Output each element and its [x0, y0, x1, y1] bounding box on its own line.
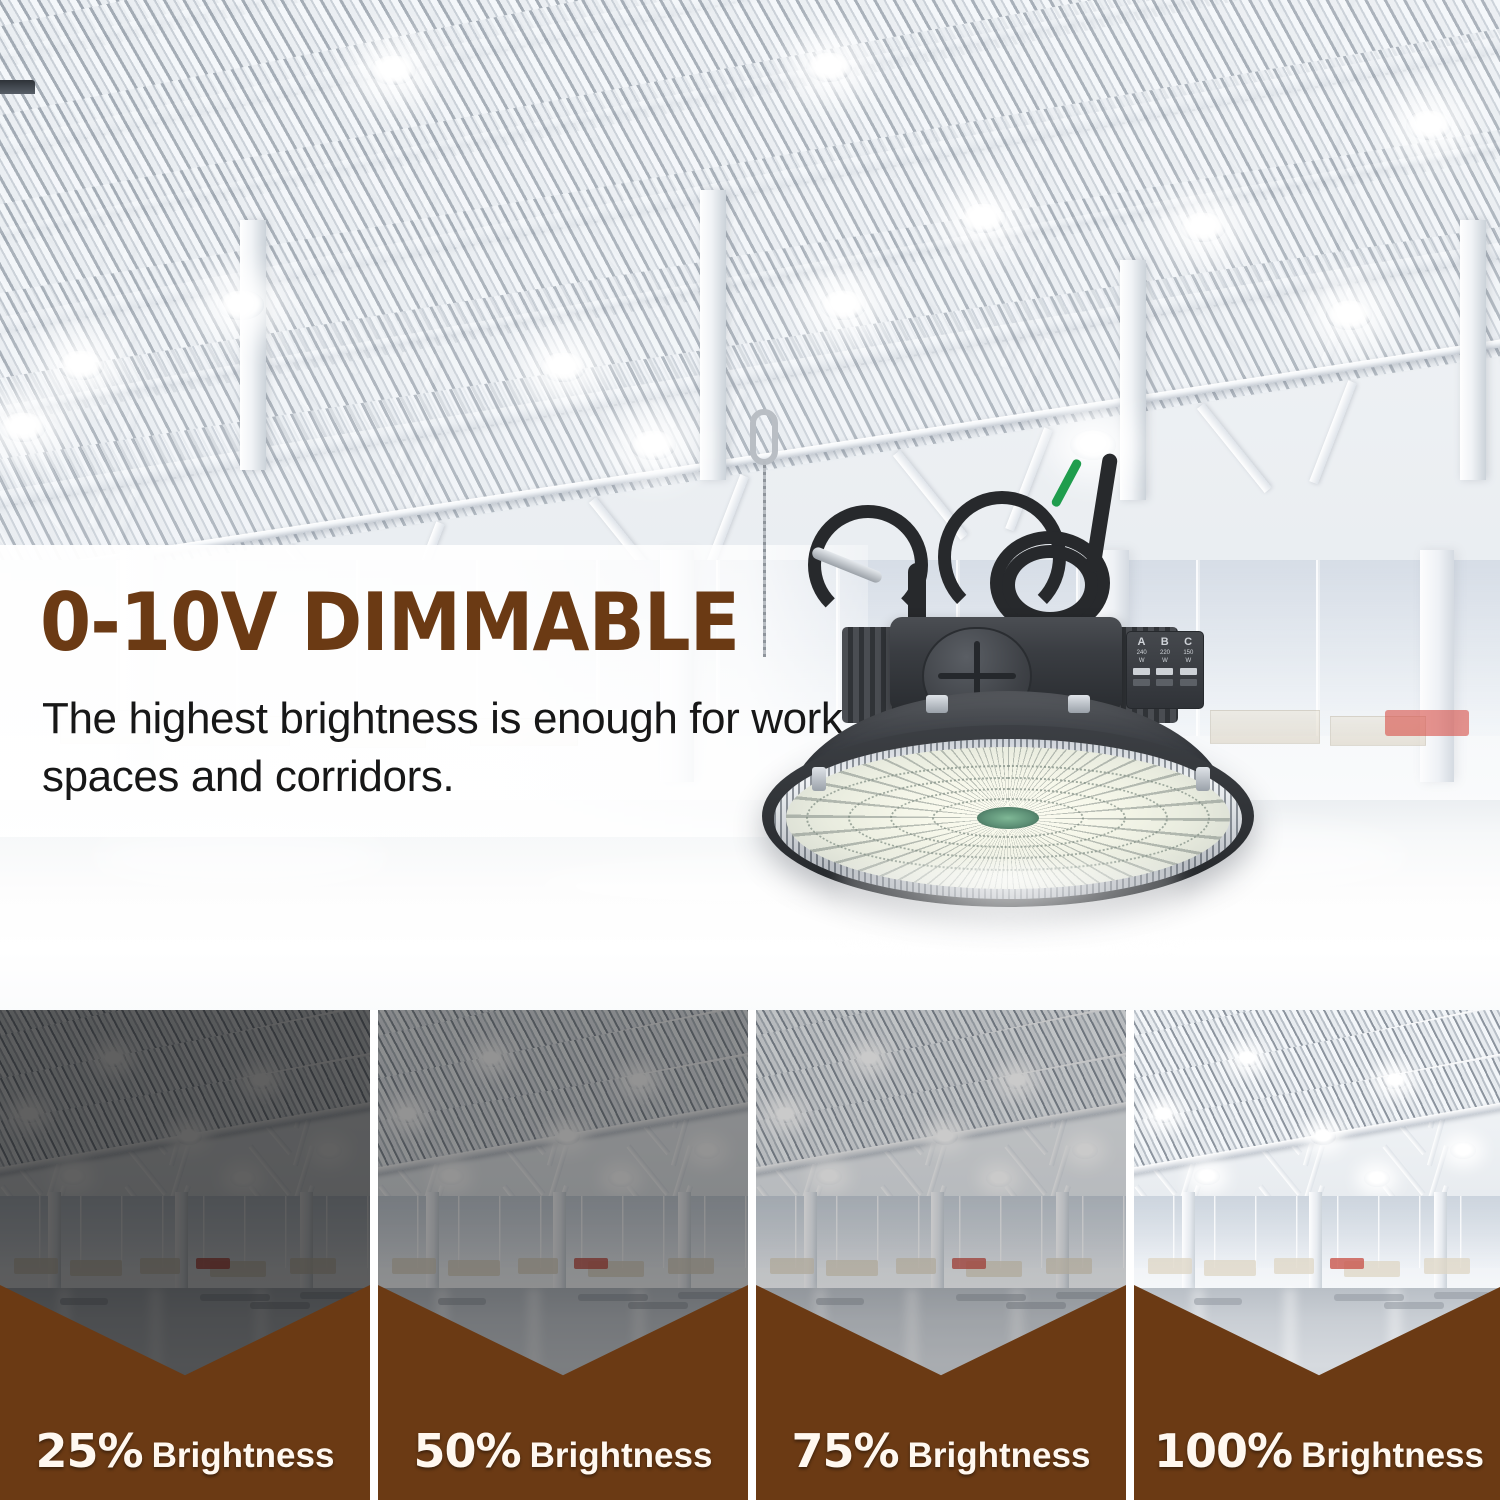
- selector-wattage-a: 240: [1137, 650, 1147, 656]
- ceiling-high-bay-lamp: [370, 55, 416, 85]
- ceiling-high-bay-lamp: [960, 203, 1006, 233]
- selector-channel-b: B: [1161, 636, 1169, 648]
- lens-clip-left: [812, 767, 826, 791]
- floor-reflection: [260, 920, 760, 966]
- product-image-high-bay-light: A B C 240 220 150 W W W: [690, 395, 1310, 955]
- carabiner-icon: [750, 409, 778, 465]
- brightness-word: Brightness: [1301, 1436, 1484, 1475]
- ceiling-high-bay-lamp: [806, 52, 852, 82]
- ceiling-support-column: [240, 220, 266, 470]
- brightness-label: 75%Brightness: [756, 1424, 1126, 1478]
- brightness-label: 25%Brightness: [0, 1424, 370, 1478]
- lens-clip-top-right: [1068, 695, 1090, 713]
- brightness-label: 100%Brightness: [1134, 1424, 1500, 1478]
- brightness-percent: 25%: [36, 1424, 143, 1478]
- page-title: 0-10V DIMMABLE: [40, 583, 739, 663]
- lens-clip-right: [1196, 767, 1210, 791]
- ceiling-high-bay-lamp: [820, 290, 866, 320]
- dimming-panel: 75%Brightness: [756, 1010, 1126, 1500]
- selector-wattage-row: 240 220 150: [1130, 650, 1200, 656]
- warehouse-pillar: [1420, 550, 1454, 782]
- selector-unit-a: W: [1139, 658, 1145, 664]
- brightness-word: Brightness: [152, 1436, 335, 1475]
- ceiling-high-bay-lamp: [1180, 212, 1226, 242]
- product-marketing-image: 0-10V DIMMABLE The highest brightness is…: [0, 0, 1500, 1500]
- selector-channel-c: C: [1184, 636, 1192, 648]
- selector-wattage-c: 150: [1183, 650, 1193, 656]
- dip-switch-row-top[interactable]: [1130, 668, 1200, 675]
- power-selector-switch[interactable]: A B C 240 220 150 W W W: [1126, 631, 1204, 709]
- dimming-panel: 100%Brightness: [1134, 1010, 1500, 1500]
- brightness-word: Brightness: [908, 1436, 1091, 1475]
- dimming-panel: 50%Brightness: [378, 1010, 748, 1500]
- dip-switch-row-bottom[interactable]: [1130, 679, 1200, 686]
- floor-reflection: [90, 830, 390, 890]
- ceiling-support-column: [1460, 220, 1486, 480]
- selector-unit-b: W: [1162, 658, 1168, 664]
- power-cord-coil-2: [1002, 545, 1098, 625]
- brightness-percent: 100%: [1154, 1424, 1292, 1478]
- dimming-comparison-strip: 25%Brightness50%Brightness75%Brightness1…: [0, 1010, 1500, 1500]
- brightness-word: Brightness: [530, 1436, 713, 1475]
- red-equipment: [1385, 710, 1469, 736]
- selector-wattage-b: 220: [1160, 650, 1170, 656]
- ceiling-high-bay-lamp: [1406, 110, 1452, 140]
- selector-unit-c: W: [1185, 658, 1191, 664]
- light-glow: [840, 865, 1180, 955]
- ceiling-high-bay-lamp: [58, 350, 104, 380]
- selector-channel-a: A: [1137, 636, 1145, 648]
- brightness-percent: 50%: [414, 1424, 521, 1478]
- ceiling-high-bay-lamp: [218, 290, 264, 320]
- dimming-panel: 25%Brightness: [0, 1010, 370, 1500]
- brightness-percent: 75%: [792, 1424, 899, 1478]
- safety-cable: [763, 461, 766, 657]
- ceiling-high-bay-lamp: [0, 412, 46, 442]
- power-cord-lead: [1085, 453, 1119, 574]
- hero-warehouse-photo: 0-10V DIMMABLE The highest brightness is…: [0, 0, 1500, 1010]
- ceiling-high-bay-lamp: [540, 352, 586, 382]
- selector-channel-row: A B C: [1130, 636, 1200, 648]
- brightness-label: 50%Brightness: [378, 1424, 748, 1478]
- lens-clip-top-left: [926, 695, 948, 713]
- selector-unit-row: W W W: [1130, 658, 1200, 664]
- lens-center-hub: [977, 807, 1039, 829]
- ceiling-high-bay-lamp: [630, 430, 676, 460]
- truss-web-member: [1309, 380, 1356, 484]
- ceiling-lamp-housing: [0, 80, 35, 94]
- ground-wire-green: [1050, 458, 1082, 508]
- ceiling-high-bay-lamp: [1326, 300, 1372, 330]
